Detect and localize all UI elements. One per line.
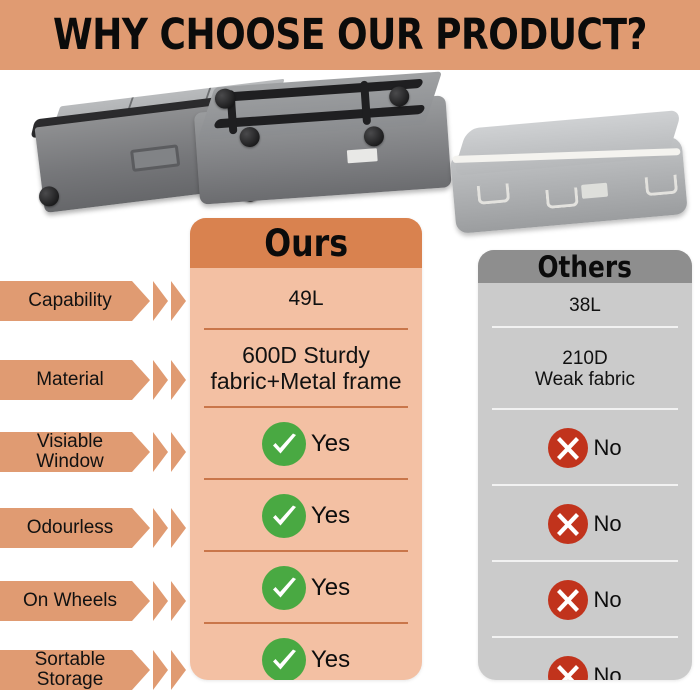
chevron-right-icon [153, 360, 168, 400]
others-cell-sortable-storage: No [478, 638, 692, 680]
ours-title: Ours [264, 222, 348, 265]
feature-label-material: Material [0, 360, 186, 400]
cross-icon [548, 428, 588, 468]
feature-label-capability: Capability [0, 281, 186, 321]
chevron-right-icon [171, 432, 186, 472]
others-on-wheels-value: No [593, 587, 621, 613]
feature-label-on-wheels: On Wheels [0, 581, 186, 621]
chevron-right-icon [171, 508, 186, 548]
feature-label-text: Visiable Window [36, 432, 120, 472]
feature-label-text: On Wheels [23, 591, 133, 611]
ours-cell-odourless: Yes [190, 480, 422, 552]
ours-cell-material: 600D Sturdy fabric+Metal frame [190, 330, 422, 408]
cross-icon [548, 580, 588, 620]
feature-label-visiable-window: Visiable Window [0, 432, 186, 472]
others-cell-on-wheels: No [478, 562, 692, 638]
product-image-competitor-felt-bag [448, 112, 688, 236]
others-cell-odourless: No [478, 486, 692, 562]
others-odourless-value: No [593, 511, 621, 537]
ours-cell-on-wheels: Yes [190, 552, 422, 624]
ours-comparison-panel: Ours 49L 600D Sturdy fabric+Metal frame … [190, 218, 422, 680]
cross-icon [548, 504, 588, 544]
cross-icon [548, 656, 588, 680]
check-icon [262, 494, 306, 538]
chevron-right-icon [171, 281, 186, 321]
chevron-right-icon [153, 508, 168, 548]
ours-cell-sortable-storage: Yes [190, 624, 422, 680]
ours-panel-header: Ours [190, 218, 422, 268]
ours-capability-value: 49L [288, 287, 323, 311]
chevron-right-icon [153, 432, 168, 472]
others-title: Others [538, 250, 632, 284]
product-image-flipped-box-frame [192, 69, 452, 208]
check-icon [262, 566, 306, 610]
ours-sortable-storage-value: Yes [311, 646, 350, 674]
chevron-right-icon [171, 650, 186, 690]
others-material-value: 210D Weak fabric [535, 348, 635, 391]
feature-label-sortable-storage: Sortable Storage [0, 650, 186, 690]
check-icon [262, 422, 306, 466]
header-banner: WHY CHOOSE OUR PRODUCT? [0, 0, 700, 70]
feature-label-odourless: Odourless [0, 508, 186, 548]
ours-odourless-value: Yes [311, 502, 350, 530]
others-sortable-storage-value: No [593, 663, 621, 680]
ours-material-value: 600D Sturdy fabric+Metal frame [210, 343, 401, 395]
page-title: WHY CHOOSE OUR PRODUCT? [25, 0, 676, 70]
chevron-right-icon [171, 360, 186, 400]
others-visiable-window-value: No [593, 435, 621, 461]
others-panel-header: Others [478, 250, 692, 283]
others-cell-capability: 38L [478, 283, 692, 328]
others-comparison-panel: Others 38L 210D Weak fabric No [478, 250, 692, 680]
chevron-right-icon [153, 650, 168, 690]
others-cell-material: 210D Weak fabric [478, 328, 692, 410]
feature-label-text: Material [36, 370, 120, 390]
feature-label-text: Capability [28, 291, 127, 311]
chevron-right-icon [153, 581, 168, 621]
chevron-right-icon [153, 281, 168, 321]
chevron-right-icon [171, 581, 186, 621]
others-cell-visiable-window: No [478, 410, 692, 486]
ours-visiable-window-value: Yes [311, 430, 350, 458]
ours-cell-capability: 49L [190, 268, 422, 330]
others-capability-value: 38L [569, 295, 601, 316]
feature-label-text: Odourless [27, 518, 130, 538]
feature-label-text: Sortable Storage [35, 650, 122, 690]
ours-on-wheels-value: Yes [311, 574, 350, 602]
ours-cell-visiable-window: Yes [190, 408, 422, 480]
check-icon [262, 638, 306, 680]
